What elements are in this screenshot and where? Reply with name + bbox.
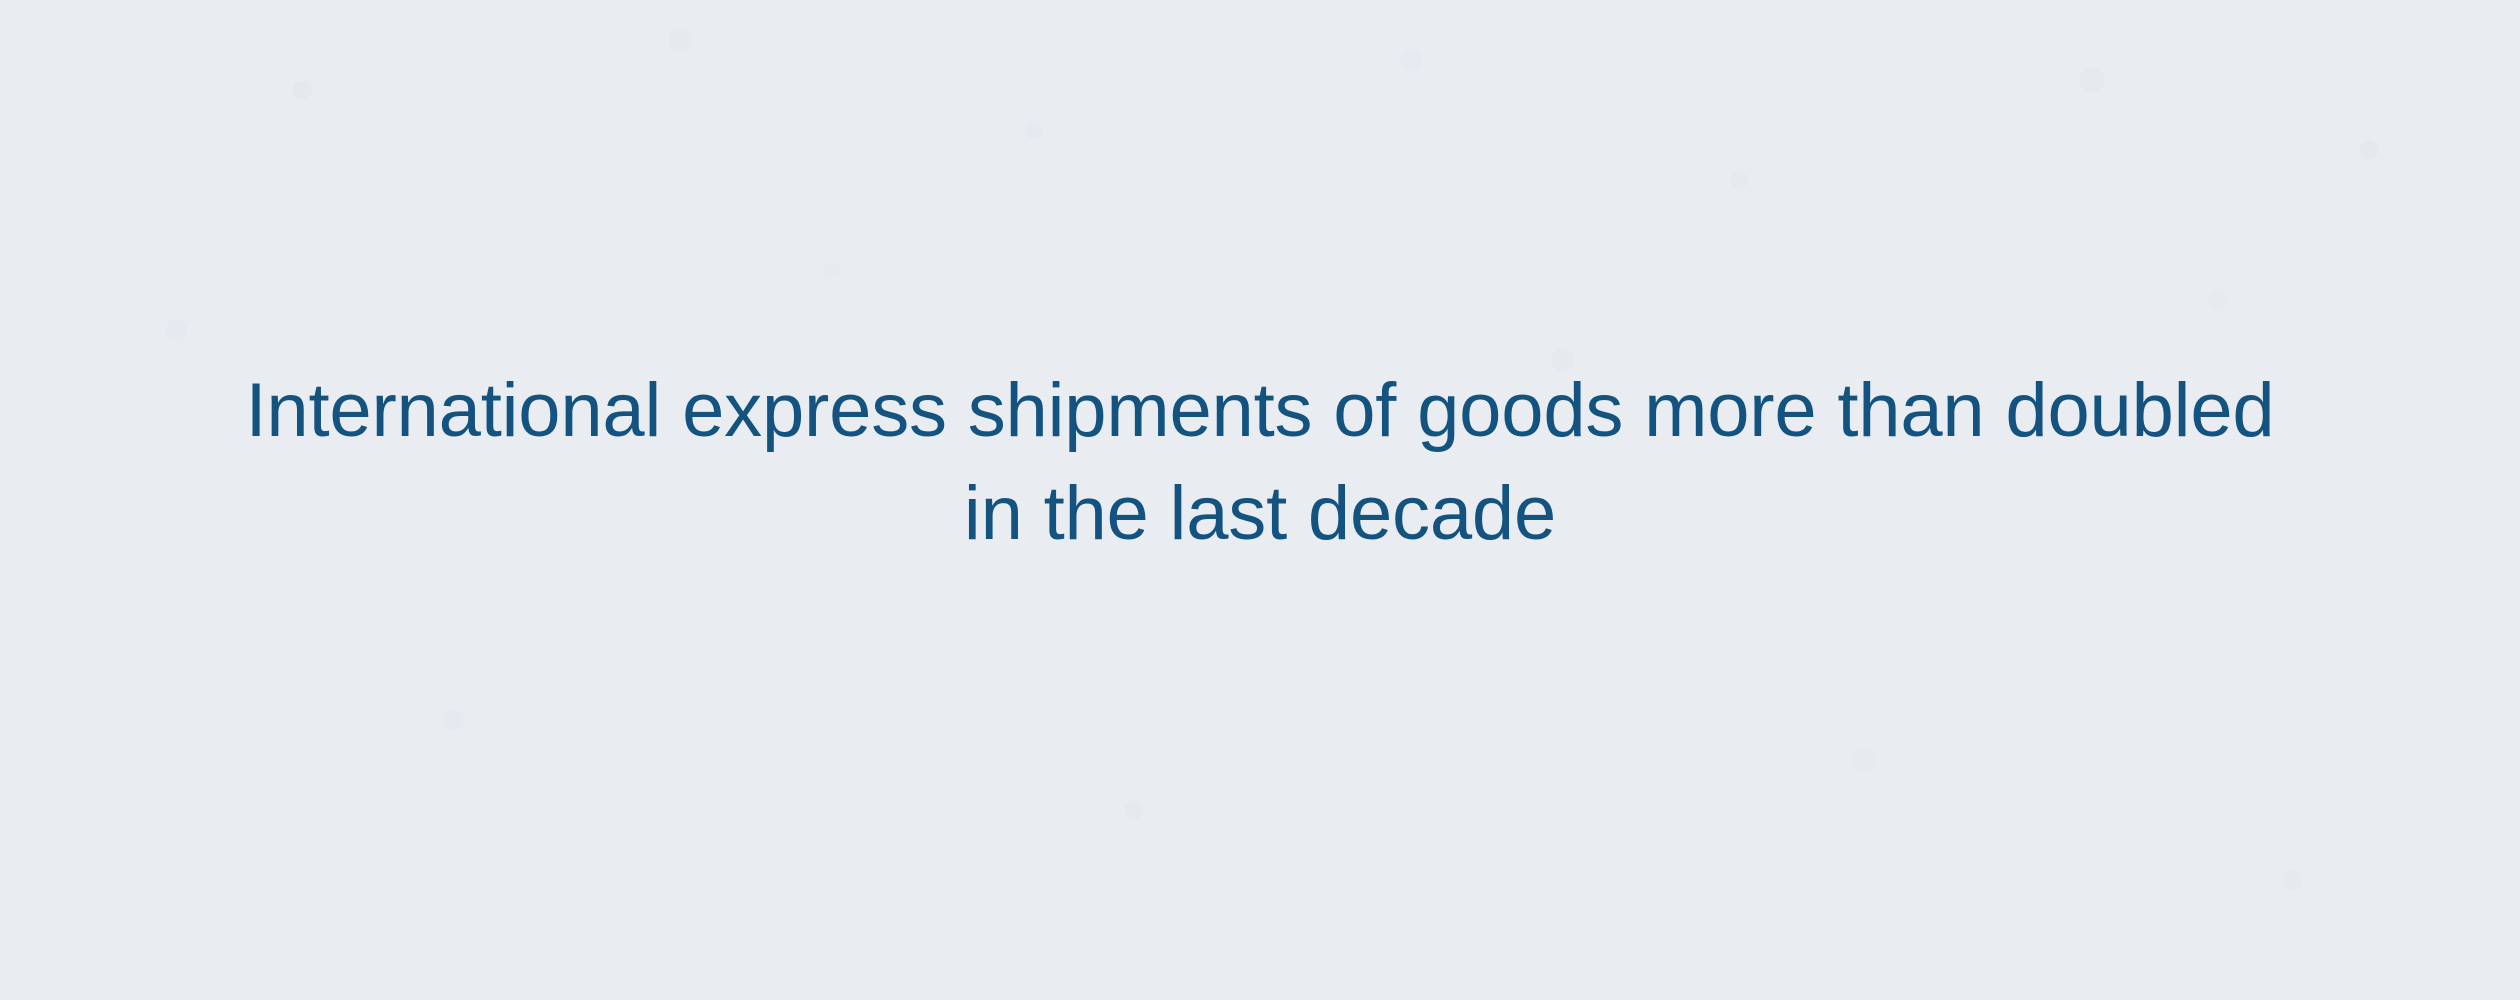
slide-canvas: International express shipments of goods… (0, 0, 2520, 1000)
page-title: International express shipments of goods… (65, 359, 2454, 565)
